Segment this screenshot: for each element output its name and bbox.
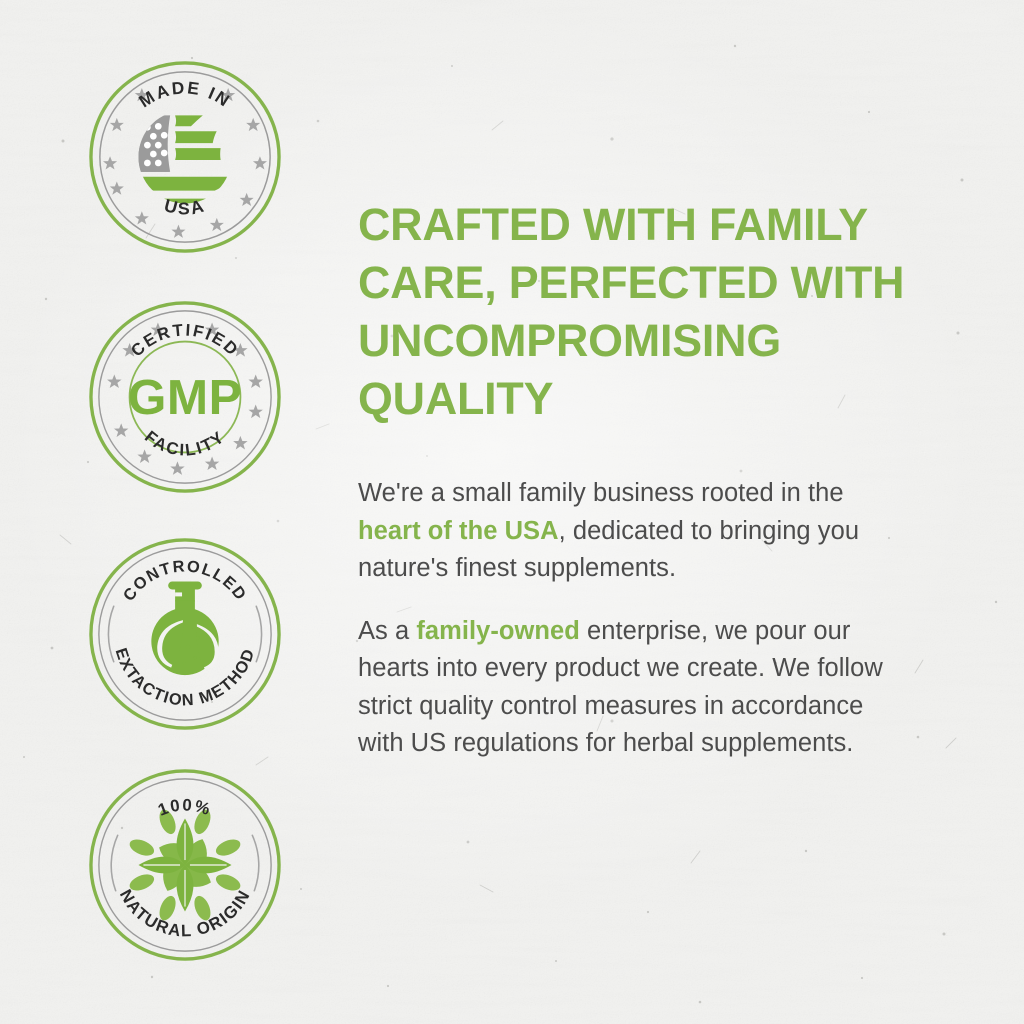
badge-made-in-usa: MADE IN USA <box>86 58 284 256</box>
headline-line-3: UNCOMPROMISING <box>358 315 781 366</box>
poster-canvas: MADE IN USA <box>0 0 1024 1024</box>
svg-text:FACILITY: FACILITY <box>141 427 229 460</box>
page-headline: CRAFTED WITH FAMILY CARE, PERFECTED WITH… <box>358 196 919 428</box>
paragraph-2-part-1: As a <box>358 617 416 645</box>
copy-column: CRAFTED WITH FAMILY CARE, PERFECTED WITH… <box>358 196 938 763</box>
poster-content: MADE IN USA <box>0 0 1024 1024</box>
trust-badge-column: MADE IN USA <box>86 58 301 978</box>
paragraph-1: We're a small family business rooted in … <box>358 475 888 588</box>
badge-bottom-text: FACILITY <box>141 427 229 460</box>
leaf-rosette-icon: 100% NATURAL ORIGIN <box>86 766 284 964</box>
badge-top-text: 100% <box>155 795 214 819</box>
paragraph-2-highlight: family-owned <box>416 617 580 645</box>
headline-line-4: QUALITY <box>358 373 553 424</box>
badge-gmp-certified: GMP CERTIFIED FACILITY <box>86 298 284 496</box>
paragraph-2: As a family-owned enterprise, we pour ou… <box>358 613 888 763</box>
badge-natural-origin: 100% NATURAL ORIGIN <box>86 766 284 964</box>
badge-center-text: GMP <box>128 370 242 425</box>
usa-flag-icon: MADE IN USA <box>86 58 284 256</box>
headline-line-1: CRAFTED WITH FAMILY <box>358 199 868 250</box>
body-copy: We're a small family business rooted in … <box>358 475 888 763</box>
flask-leaf-icon: CONTROLLED EXTACTION METHOD <box>86 535 284 733</box>
badge-controlled-extraction: CONTROLLED EXTACTION METHOD <box>86 535 284 733</box>
badge-top-text: MADE IN <box>135 77 234 111</box>
paragraph-1-part-1: We're a small family business rooted in … <box>358 479 844 507</box>
headline-line-2: CARE, PERFECTED WITH <box>358 257 904 308</box>
svg-text:CERTIFIED: CERTIFIED <box>127 320 243 360</box>
badge-top-text: CERTIFIED <box>127 320 243 360</box>
svg-text:100%: 100% <box>155 795 214 819</box>
svg-text:USA: USA <box>162 195 208 218</box>
badge-bottom-text: USA <box>162 195 208 218</box>
paragraph-1-highlight: heart of the USA <box>358 517 559 545</box>
gmp-seal-icon: GMP CERTIFIED FACILITY <box>86 298 284 496</box>
svg-text:MADE IN: MADE IN <box>135 77 234 111</box>
